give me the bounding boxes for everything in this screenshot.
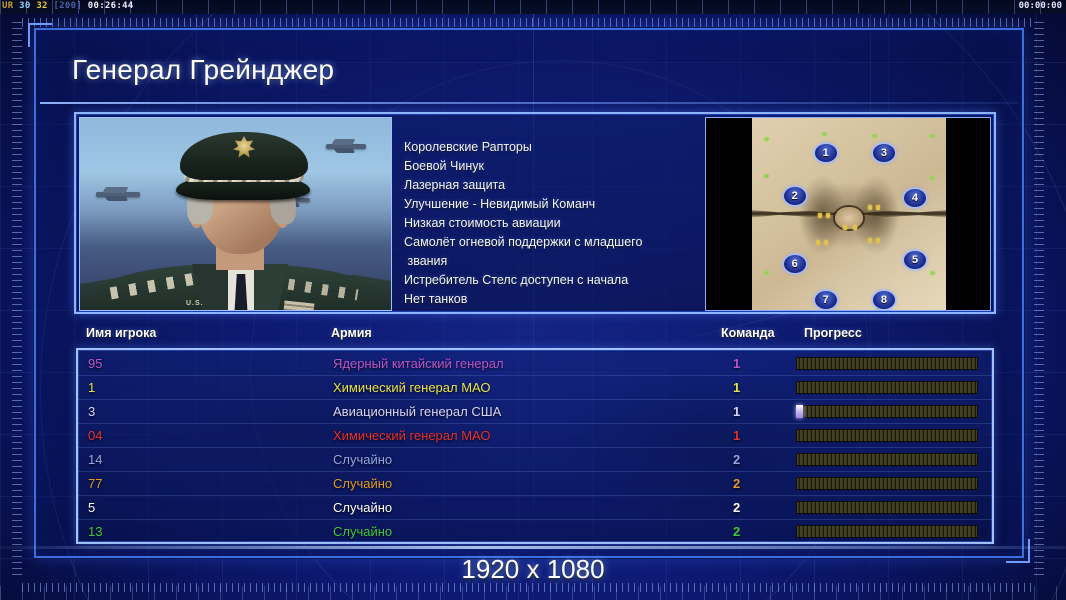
table-row[interactable]: 1Химический генерал МАО1 — [78, 376, 992, 400]
resolution-bar: 1920 x 1080 — [0, 552, 1066, 586]
player-team: 2 — [733, 496, 740, 520]
map-supply-marker — [930, 134, 935, 138]
map-supply-marker — [764, 137, 769, 141]
map-supply-marker — [764, 174, 769, 178]
player-name: 5 — [88, 496, 95, 520]
map-oil-marker — [818, 213, 822, 218]
player-name: 1 — [88, 376, 95, 400]
player-team: 2 — [733, 520, 740, 544]
map-oil-marker — [876, 238, 880, 243]
map-start-position-7[interactable]: 7 — [815, 291, 837, 309]
map-start-position-1[interactable]: 1 — [815, 144, 837, 162]
player-progress-bar — [796, 501, 978, 514]
hud-tick-marks — [0, 0, 1066, 14]
player-name: 14 — [88, 448, 102, 472]
map-terrain: 13246578 — [752, 118, 946, 311]
resolution-label: 1920 x 1080 — [461, 554, 604, 584]
player-table: 95Ядерный китайский генерал11Химический … — [76, 348, 994, 544]
hud-clock: 00:00:00 — [1019, 1, 1062, 11]
player-team: 1 — [733, 400, 740, 424]
map-start-position-2[interactable]: 2 — [784, 187, 806, 205]
player-army: Случайно — [333, 520, 392, 544]
hud-top-bar: UR 30 32 [200] 00:26:44 00:00:00 — [0, 0, 1066, 14]
page-title-area: Генерал Грейнджер — [72, 44, 1012, 96]
map-markers-overlay: 13246578 — [752, 118, 946, 311]
title-divider — [40, 102, 1018, 104]
map-oil-marker — [824, 240, 828, 245]
table-row[interactable]: 77Случайно2 — [78, 472, 992, 496]
map-start-position-5[interactable]: 5 — [904, 251, 926, 269]
resolution-divider — [0, 546, 1066, 549]
hud-status-value1: 30 — [19, 1, 30, 11]
map-supply-marker — [872, 134, 877, 138]
player-team: 1 — [733, 424, 740, 448]
map-oil-marker — [853, 225, 857, 230]
frame-ruler-left — [12, 22, 22, 578]
general-info-panel: U.S. Королевские Рапторы Боевой Чинук Ла… — [74, 112, 996, 314]
player-progress-bar — [796, 453, 978, 466]
player-team: 1 — [733, 352, 740, 376]
player-army: Химический генерал МАО — [333, 424, 491, 448]
map-oil-marker — [868, 205, 872, 210]
map-oil-marker — [876, 205, 880, 210]
column-header-progress: Прогресс — [804, 326, 862, 340]
portrait-figure: U.S. — [80, 118, 391, 310]
player-army: Случайно — [333, 472, 392, 496]
general-portrait: U.S. — [79, 117, 392, 311]
column-header-army: Армия — [331, 326, 372, 340]
player-progress-bar — [796, 477, 978, 490]
frame-ruler-right — [1034, 22, 1044, 578]
map-supply-marker — [930, 271, 935, 275]
player-name: 04 — [88, 424, 102, 448]
table-row[interactable]: 13Случайно2 — [78, 520, 992, 544]
hud-status-value2: 32 — [36, 1, 47, 11]
player-army: Авиационный генерал США — [333, 400, 501, 424]
player-team: 2 — [733, 448, 740, 472]
frame-ruler-top — [22, 18, 1032, 27]
table-row[interactable]: 5Случайно2 — [78, 496, 992, 520]
player-progress-bar — [796, 381, 978, 394]
column-header-team: Команда — [721, 326, 775, 340]
map-oil-marker — [843, 225, 847, 230]
player-army: Случайно — [333, 448, 392, 472]
player-team: 1 — [733, 376, 740, 400]
map-supply-marker — [764, 271, 769, 275]
player-army: Химический генерал МАО — [333, 376, 491, 400]
player-table-header: Имя игрока Армия Команда Прогресс — [76, 326, 994, 348]
hud-status-prefix: UR — [2, 1, 13, 11]
table-row[interactable]: 04Химический генерал МАО1 — [78, 424, 992, 448]
page-title: Генерал Грейнджер — [72, 44, 1012, 96]
table-row[interactable]: 3Авиационный генерал США1 — [78, 400, 992, 424]
map-oil-marker — [816, 240, 820, 245]
player-progress-fill — [796, 405, 803, 418]
table-row[interactable]: 14Случайно2 — [78, 448, 992, 472]
map-start-position-3[interactable]: 3 — [873, 144, 895, 162]
player-name: 95 — [88, 352, 102, 376]
column-header-name: Имя игрока — [86, 326, 156, 340]
portrait-us-label: U.S. — [186, 300, 204, 307]
map-start-position-4[interactable]: 4 — [904, 189, 926, 207]
hud-status-readout: UR 30 32 [200] 00:26:44 — [2, 1, 134, 11]
map-supply-marker — [930, 176, 935, 180]
hud-status-timer: 00:26:44 — [88, 1, 134, 11]
player-team: 2 — [733, 472, 740, 496]
map-start-position-6[interactable]: 6 — [784, 255, 806, 273]
player-progress-bar — [796, 429, 978, 442]
player-name: 3 — [88, 400, 95, 424]
map-supply-marker — [822, 132, 827, 136]
player-army: Случайно — [333, 496, 392, 520]
main-window: Генерал Грейнджер — [34, 28, 1024, 558]
player-progress-bar — [796, 405, 978, 418]
player-name: 13 — [88, 520, 102, 544]
map-preview[interactable]: 13246578 — [705, 117, 991, 311]
map-oil-marker — [826, 213, 830, 218]
player-name: 77 — [88, 472, 102, 496]
table-row[interactable]: 95Ядерный китайский генерал1 — [78, 352, 992, 376]
player-army: Ядерный китайский генерал — [333, 352, 504, 376]
hud-status-bracket: [200] — [53, 1, 82, 11]
hud-bottom-bar — [0, 586, 1066, 600]
player-progress-bar — [796, 525, 978, 538]
map-start-position-8[interactable]: 8 — [873, 291, 895, 309]
map-oil-marker — [868, 238, 872, 243]
player-progress-bar — [796, 357, 978, 370]
